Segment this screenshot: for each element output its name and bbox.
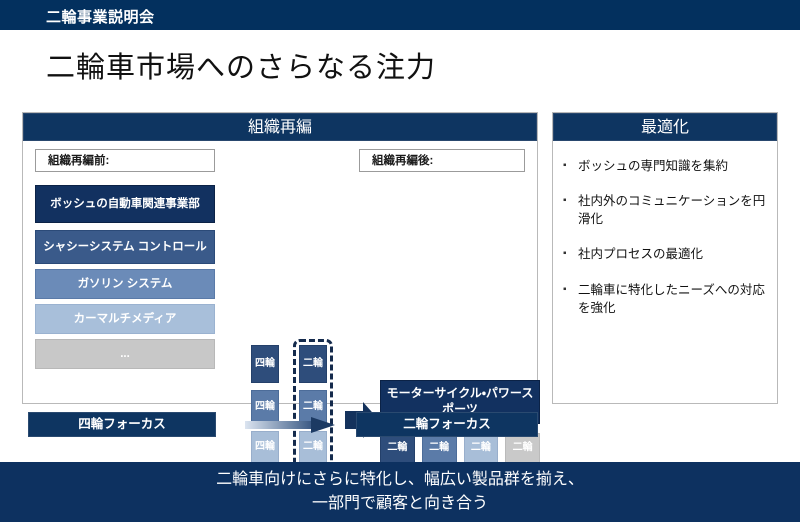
result-chip-row: 二輪 二輪 二輪 二輪 <box>380 433 540 463</box>
optimization-bullet-list: ▪ ボッシュの専門知識を集約 ▪ 社内外のコミュニケーションを円滑化 ▪ 社内プ… <box>563 157 769 334</box>
dept-box-chassis: シャシーシステム コントロール <box>35 230 215 264</box>
panel-reorganization: 組織再編 組織再編前: 組織再編後: ボッシュの自動車関連事業部 シャシーシステ… <box>22 112 538 404</box>
chip-label: 四輪 <box>255 442 275 453</box>
result-chip-0: 二輪 <box>380 433 415 463</box>
focus-bar-two-wheel: 二輪フォーカス <box>356 412 538 437</box>
panel-reorganization-heading: 組織再編 <box>23 113 537 141</box>
bullet-text: ボッシュの専門知識を集約 <box>578 157 769 175</box>
result-chip-2: 二輪 <box>464 433 499 463</box>
bullet-square-icon: ▪ <box>563 281 578 317</box>
focus-transition-arrow-icon <box>245 415 335 435</box>
result-chip-3: 二輪 <box>505 433 540 463</box>
banner-line-1: 二輪車向けにさらに特化し、幅広い製品群を揃え、 <box>216 468 584 492</box>
slide-title: 二輪車市場へのさらなる注力 <box>46 44 436 86</box>
dept-box-gasoline: ガソリン システム <box>35 269 215 299</box>
bullet-text: 二輪車に特化したニーズへの対応を強化 <box>578 281 769 317</box>
list-item: ▪ 社内外のコミュニケーションを円滑化 <box>563 192 769 228</box>
chip-label: 四輪 <box>255 359 275 370</box>
bullet-text: 社内プロセスの最適化 <box>578 245 769 263</box>
dept-box-automotive: ボッシュの自動車関連事業部 <box>35 185 215 223</box>
focus-bar-four-wheel: 四輪フォーカス <box>28 412 216 437</box>
bullet-square-icon: ▪ <box>563 192 578 228</box>
bullet-square-icon: ▪ <box>563 245 578 263</box>
panel-optimization-heading: 最適化 <box>553 113 777 141</box>
top-header-bar: 二輪事業説明会 <box>0 0 800 30</box>
chip-four-wheel-0: 四輪 <box>251 345 279 383</box>
chip-label: 四輪 <box>255 402 275 413</box>
list-item: ▪ 社内プロセスの最適化 <box>563 245 769 263</box>
bullet-square-icon: ▪ <box>563 157 578 175</box>
panel-optimization: 最適化 ▪ ボッシュの専門知識を集約 ▪ 社内外のコミュニケーションを円滑化 ▪… <box>552 112 778 404</box>
bullet-text: 社内外のコミュニケーションを円滑化 <box>578 192 769 228</box>
bottom-summary-banner: 二輪車向けにさらに特化し、幅広い製品群を揃え、 一部門で顧客と向き合う <box>0 462 800 522</box>
banner-line-2: 一部門で顧客と向き合う <box>312 492 488 516</box>
result-chip-1: 二輪 <box>422 433 457 463</box>
list-item: ▪ ボッシュの専門知識を集約 <box>563 157 769 175</box>
label-before-reorg: 組織再編前: <box>35 149 215 172</box>
label-after-reorg: 組織再編後: <box>359 149 525 172</box>
chip-four-wheel-2: 四輪 <box>251 431 279 463</box>
list-item: ▪ 二輪車に特化したニーズへの対応を強化 <box>563 281 769 317</box>
dept-box-more: ... <box>35 339 215 369</box>
dept-box-multimedia: カーマルチメディア <box>35 304 215 334</box>
presentation-title: 二輪事業説明会 <box>46 6 155 27</box>
